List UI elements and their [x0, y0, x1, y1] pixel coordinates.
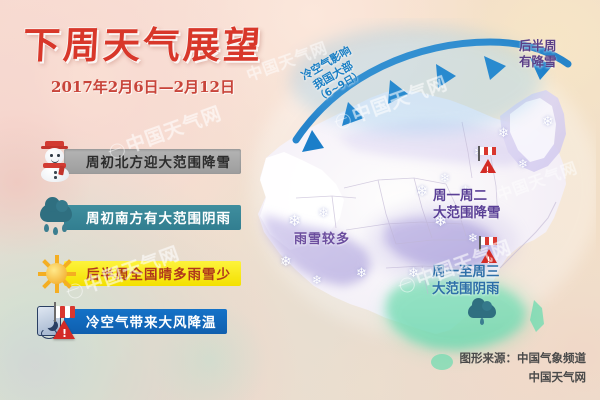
- legend-item-rain-south[interactable]: 周初南方有大范围阴雨: [36, 196, 241, 238]
- source-line-1: 图形来源：中国气象频道: [460, 349, 587, 367]
- title-block: 下周天气展望 2017年2月6日—2月12日: [0, 26, 286, 97]
- sun-icon: [36, 252, 78, 294]
- map-svg: [236, 18, 596, 373]
- map-label-south: 周一至周三 大范围阴雨: [432, 264, 500, 298]
- map-label-west: 雨雪较多: [294, 232, 350, 248]
- legend-label: 冷空气带来大风降温: [64, 309, 227, 334]
- legend-label: 周初北方迎大范围降雪: [64, 149, 241, 174]
- legend-item-sunny-late-week[interactable]: 后半周全国晴多雨雪少: [36, 252, 241, 294]
- legend-label: 后半周全国晴多雨雪少: [64, 261, 241, 286]
- date-range-label: 2017年2月6日—2月12日: [0, 76, 286, 97]
- china-map: ❄ ❄ ❄ ❄ ❄ ❄ ❄ ❄ ❄ ❄ ❄ ❄ ❄ ❄ ❄ ℃ ℃: [236, 18, 596, 373]
- legend-item-snow-north[interactable]: 周初北方迎大范围降雪: [36, 140, 241, 182]
- snowman-icon: [36, 140, 78, 182]
- warning-exclamation: !: [486, 165, 489, 175]
- map-label-central: 周一周二 大范围降雪: [433, 188, 501, 222]
- rain-cloud-icon: [36, 196, 78, 238]
- wind-warning-marker-northeast: !: [477, 146, 505, 178]
- page-title: 下周天气展望: [0, 26, 287, 67]
- source-attribution: 图形来源：中国气象频道 中国天气网: [460, 349, 587, 386]
- cold-wind-warning-icon: !: [36, 300, 78, 342]
- map-label-northeast: 后半周 有降雪: [519, 38, 557, 69]
- warning-exclamation: !: [62, 327, 67, 340]
- weather-outlook-poster: ❄ ❄ ❄ ❄ ❄ ❄ ❄ ❄ ❄ ❄ ❄ ❄ ❄ ❄ ❄ ℃ ℃: [0, 0, 600, 400]
- rain-cloud-marker-south: [468, 298, 498, 322]
- source-line-2: 中国天气网: [460, 368, 587, 386]
- legend-item-cold-wind[interactable]: ! 冷空气带来大风降温: [36, 300, 227, 342]
- raindrop: [480, 318, 484, 325]
- windsock-icon: [55, 306, 77, 318]
- cloud-shape: [468, 304, 496, 318]
- legend-label: 周初南方有大范围阴雨: [64, 205, 241, 230]
